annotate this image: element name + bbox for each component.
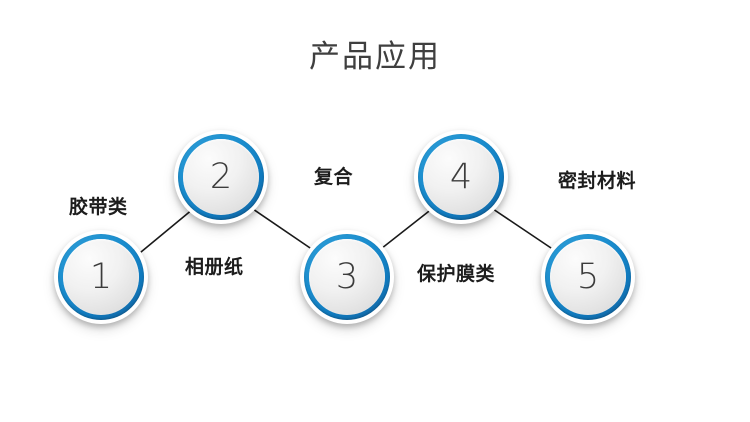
node-number-2: 2 — [210, 160, 232, 195]
node-disc-1: 1 — [63, 239, 139, 315]
node-number-4: 4 — [450, 160, 472, 195]
node-label-3: 复合 — [314, 168, 353, 187]
connector-4-5 — [490, 207, 557, 252]
node-number-5: 5 — [577, 260, 599, 295]
node-circle-2[interactable]: 2 — [174, 130, 268, 224]
node-circle-1[interactable]: 1 — [54, 230, 148, 324]
node-label-4: 保护膜类 — [417, 265, 495, 284]
node-disc-3: 3 — [309, 239, 385, 315]
node-circle-3[interactable]: 3 — [300, 230, 394, 324]
node-label-2: 相册纸 — [185, 258, 244, 277]
node-circle-5[interactable]: 5 — [541, 230, 635, 324]
connector-2-3 — [250, 207, 316, 252]
connector-1-2 — [141, 209, 193, 252]
connector-3-4 — [377, 208, 433, 252]
node-number-1: 1 — [90, 260, 112, 295]
node-disc-4: 4 — [423, 139, 499, 215]
node-label-1: 胶带类 — [69, 198, 128, 217]
node-disc-5: 5 — [550, 239, 626, 315]
diagram-canvas: 产品应用 1 2 3 4 5 — [0, 0, 750, 422]
node-number-3: 3 — [336, 260, 358, 295]
node-disc-2: 2 — [183, 139, 259, 215]
page-title: 产品应用 — [0, 42, 750, 73]
node-circle-4[interactable]: 4 — [414, 130, 508, 224]
node-label-5: 密封材料 — [558, 172, 636, 191]
